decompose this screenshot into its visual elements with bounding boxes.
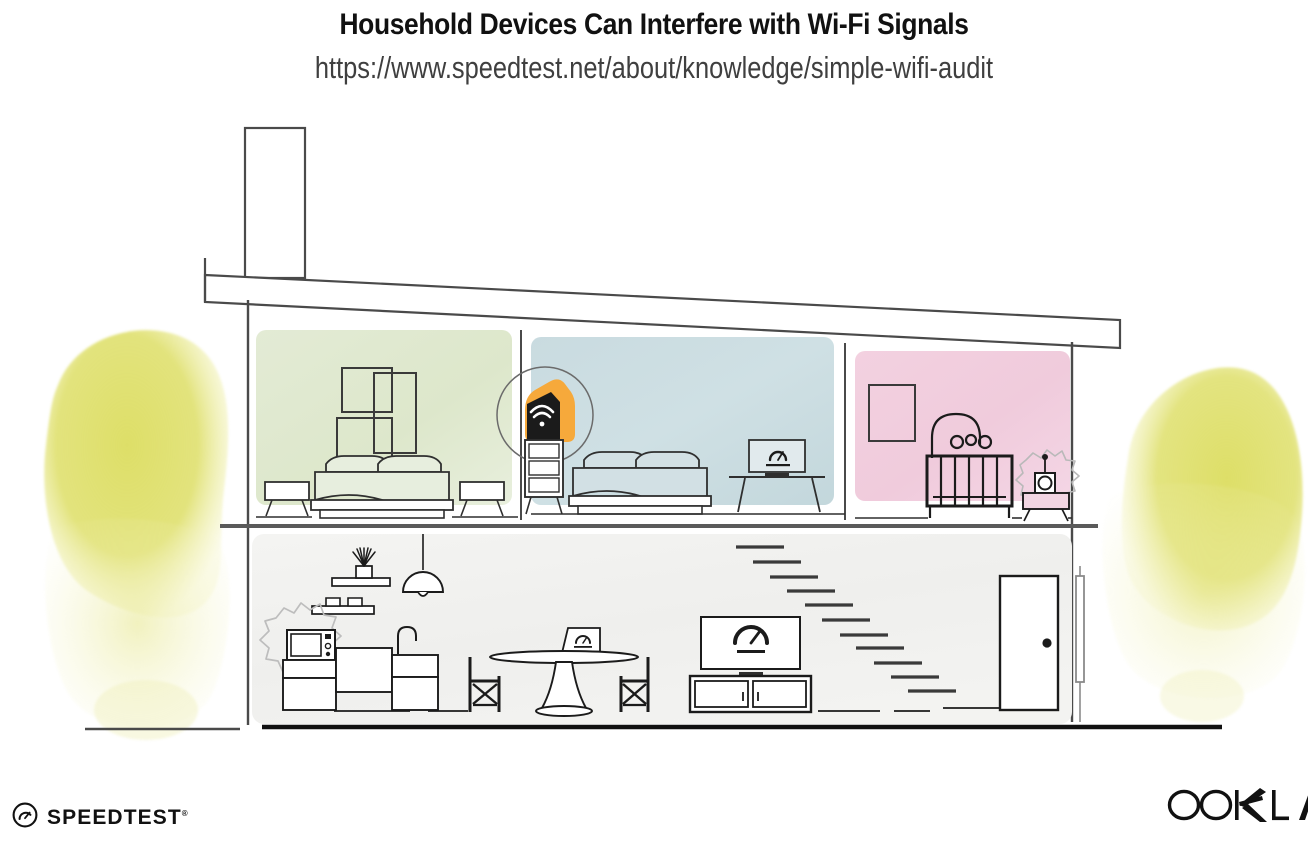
speedtest-wordmark: SPEEDTEST® [47, 806, 189, 830]
nightstand-right [460, 482, 504, 516]
monitor-screen[interactable] [749, 440, 805, 476]
front-door[interactable] [1000, 576, 1058, 710]
bed-middle-bedroom [569, 452, 711, 514]
source-url: https://www.speedtest.net/about/knowledg… [118, 42, 1191, 86]
side-window [1076, 566, 1084, 722]
microwave[interactable] [287, 630, 335, 660]
television[interactable] [701, 617, 800, 675]
header: Household Devices Can Interfere with Wi-… [0, 0, 1308, 86]
nightstand-nursery [1023, 493, 1069, 521]
illustration-stage: Household Devices Can Interfere with Wi-… [0, 0, 1308, 861]
ookla-brand: ® [1164, 782, 1308, 833]
ookla-logo: ® [1164, 782, 1308, 828]
ground-floor [252, 534, 1072, 724]
wall-shelf-upper [332, 578, 390, 586]
chimney [245, 128, 305, 278]
nightstand-left [265, 482, 309, 516]
speedometer-icon [12, 802, 38, 833]
bowl-left [326, 598, 340, 606]
media-console [690, 676, 811, 712]
speedtest-brand: SPEEDTEST® [12, 802, 189, 833]
registered-trademark: ® [182, 809, 189, 818]
bowl-right [348, 598, 362, 606]
ground-line [85, 727, 1222, 729]
page-title: Household Devices Can Interfere with Wi-… [78, 0, 1229, 42]
house-cutaway-illustration [0, 0, 1308, 861]
bed-left-bedroom [311, 456, 453, 518]
